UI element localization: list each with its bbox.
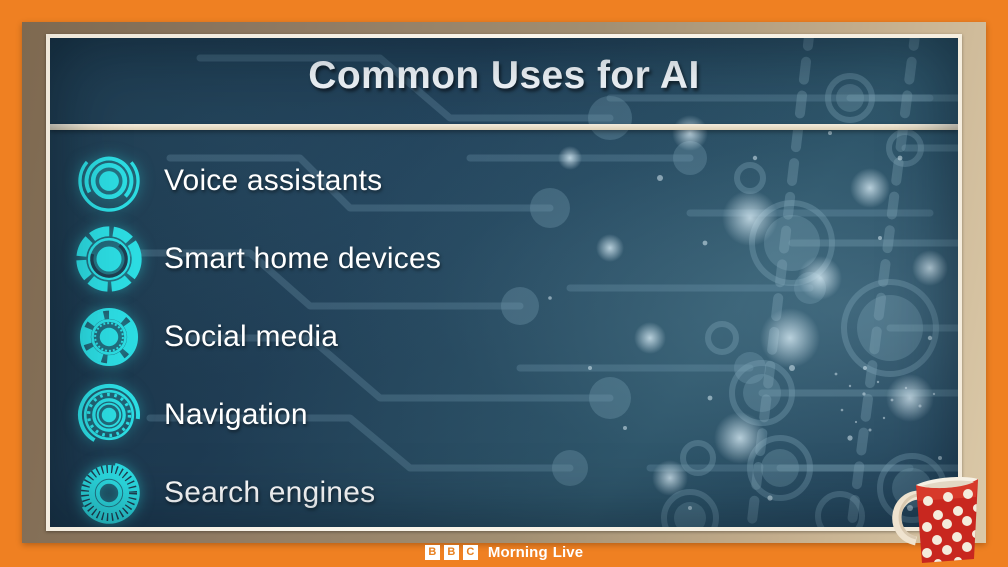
bbc-letter-box: C [463,545,478,560]
programme-name-word-one: Morning [488,544,548,561]
hud-ring-segmented-icon [76,226,142,292]
list-item: Social media [70,298,530,376]
hud-ring-open-icon [76,148,142,214]
presentation-board: Common Uses for AI Voice assistants [50,38,958,527]
screen: Common Uses for AI Voice assistants [0,0,1008,567]
programme-name-word-two: Live [553,544,583,561]
bbc-morning-live-logo: B B C MorningLive [0,544,1008,561]
list-item-label: Smart home devices [164,242,441,276]
list-item-label: Social media [164,320,338,354]
board-bevel: Common Uses for AI Voice assistants [46,34,962,531]
list-item-label: Navigation [164,398,308,432]
list-item: Navigation [70,376,530,454]
list-item-label: Voice assistants [164,164,382,198]
board-title-area: Common Uses for AI [50,38,958,126]
list-item: Voice assistants [70,142,530,220]
page-title: Common Uses for AI [50,54,958,98]
list-item-label: Search engines [164,476,375,510]
programme-name: MorningLive [488,544,583,561]
uses-list: Voice assistants Smart home devices [70,142,530,527]
bbc-letter-box: B [425,545,440,560]
hud-ring-dotted-icon [76,382,142,448]
hud-ring-striped-icon [76,460,142,526]
list-item: Smart home devices [70,220,530,298]
bbc-letter-box: B [444,545,459,560]
red-polka-dot-mug [882,467,1000,567]
hud-ring-spoked-icon [76,304,142,370]
title-divider [50,124,958,130]
list-item: Search engines [70,454,530,527]
board-frame: Common Uses for AI Voice assistants [22,22,986,543]
